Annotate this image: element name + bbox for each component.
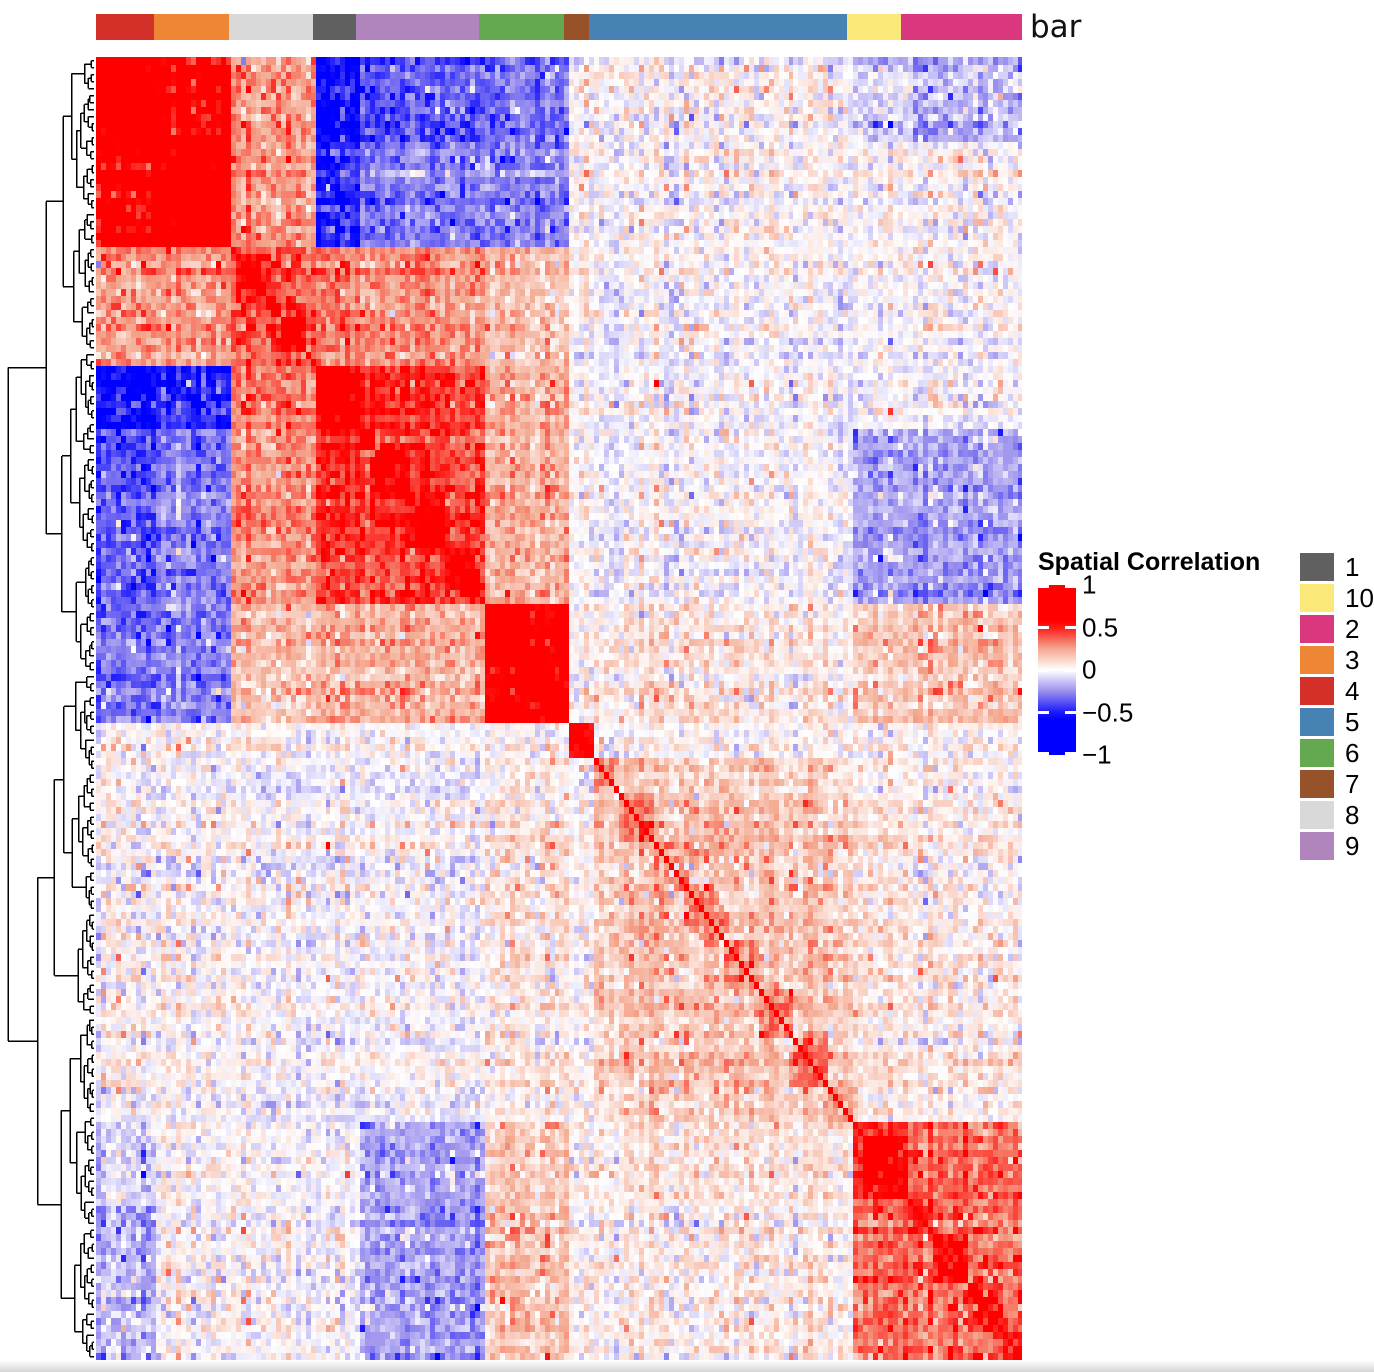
cluster-legend-label: 3 [1345, 646, 1359, 674]
correlation-heatmap [96, 57, 1022, 1360]
annotation-bar-label: bar [1030, 10, 1081, 44]
cluster-swatch-8 [1300, 801, 1334, 829]
cluster-legend-item-3[interactable]: 3 [1300, 644, 1374, 675]
color-scale-legend: Spatial Correlation 10.50−0.5−1 [1038, 548, 1278, 755]
cluster-swatch-2 [1300, 615, 1334, 643]
cluster-legend-item-2[interactable]: 2 [1300, 613, 1374, 644]
cluster-legend-label: 8 [1345, 801, 1359, 829]
gradient-tick-label: 0.5 [1082, 612, 1118, 643]
cluster-legend-label: 2 [1345, 615, 1359, 643]
cluster-legend-item-8[interactable]: 8 [1300, 799, 1374, 830]
cluster-legend-item-10[interactable]: 10 [1300, 582, 1374, 613]
annotation-segment-cluster-8 [229, 14, 313, 40]
annotation-segment-cluster-1 [313, 14, 356, 40]
row-dendrogram [4, 57, 96, 1360]
heatmap-canvas [96, 57, 1022, 1360]
cluster-legend-label: 4 [1345, 677, 1359, 705]
cluster-swatch-3 [1300, 646, 1334, 674]
cluster-swatch-1 [1300, 553, 1334, 581]
cluster-legend-item-9[interactable]: 9 [1300, 830, 1374, 861]
cluster-legend-item-7[interactable]: 7 [1300, 768, 1374, 799]
cluster-legend-item-1[interactable]: 1 [1300, 551, 1374, 582]
cluster-legend-label: 6 [1345, 739, 1359, 767]
gradient-tick-label: −0.5 [1082, 697, 1133, 728]
page-bottom-shadow [0, 1360, 1374, 1372]
gradient-tick [1038, 669, 1076, 672]
annotation-segment-cluster-7 [564, 14, 589, 40]
cluster-swatch-5 [1300, 708, 1334, 736]
annotation-segment-cluster-2 [901, 14, 1022, 40]
cluster-legend-label: 1 [1345, 553, 1359, 581]
cluster-legend-label: 7 [1345, 770, 1359, 798]
cluster-swatch-4 [1300, 677, 1334, 705]
cluster-legend-label: 10 [1345, 584, 1374, 612]
gradient-tick-marks [1038, 585, 1076, 755]
cluster-legend: 11023456789 [1300, 551, 1374, 861]
cluster-legend-label: 5 [1345, 708, 1359, 736]
cluster-annotation-bar [96, 14, 1022, 40]
cluster-legend-item-6[interactable]: 6 [1300, 737, 1374, 768]
cluster-legend-item-4[interactable]: 4 [1300, 675, 1374, 706]
legend-title: Spatial Correlation [1038, 548, 1278, 577]
gradient-tick [1038, 626, 1076, 629]
cluster-swatch-6 [1300, 739, 1334, 767]
cluster-legend-item-5[interactable]: 5 [1300, 706, 1374, 737]
cluster-swatch-10 [1300, 584, 1334, 612]
gradient-tick-label: −1 [1082, 740, 1112, 771]
cluster-swatch-7 [1300, 770, 1334, 798]
gradient-tick [1038, 752, 1076, 755]
annotation-segment-cluster-9 [356, 14, 479, 40]
annotation-segment-cluster-4 [96, 14, 154, 40]
annotation-segment-cluster-5 [589, 14, 847, 40]
cluster-legend-label: 9 [1345, 832, 1359, 860]
gradient-tick [1038, 711, 1076, 714]
annotation-segment-cluster-3 [154, 14, 229, 40]
annotation-segment-cluster-6b [479, 14, 564, 40]
heatmap-figure: bar Spatial Correlation 10.50−0.5−1 1102… [0, 0, 1374, 1372]
annotation-segment-cluster-10 [847, 14, 901, 40]
gradient-tick-label: 0 [1082, 655, 1096, 686]
gradient-tick [1038, 585, 1076, 588]
gradient-tick-label: 1 [1082, 570, 1096, 601]
dendrogram-branches [8, 61, 94, 1357]
cluster-swatch-9 [1300, 832, 1334, 860]
gradient-tick-labels: 10.50−0.5−1 [1082, 585, 1262, 755]
